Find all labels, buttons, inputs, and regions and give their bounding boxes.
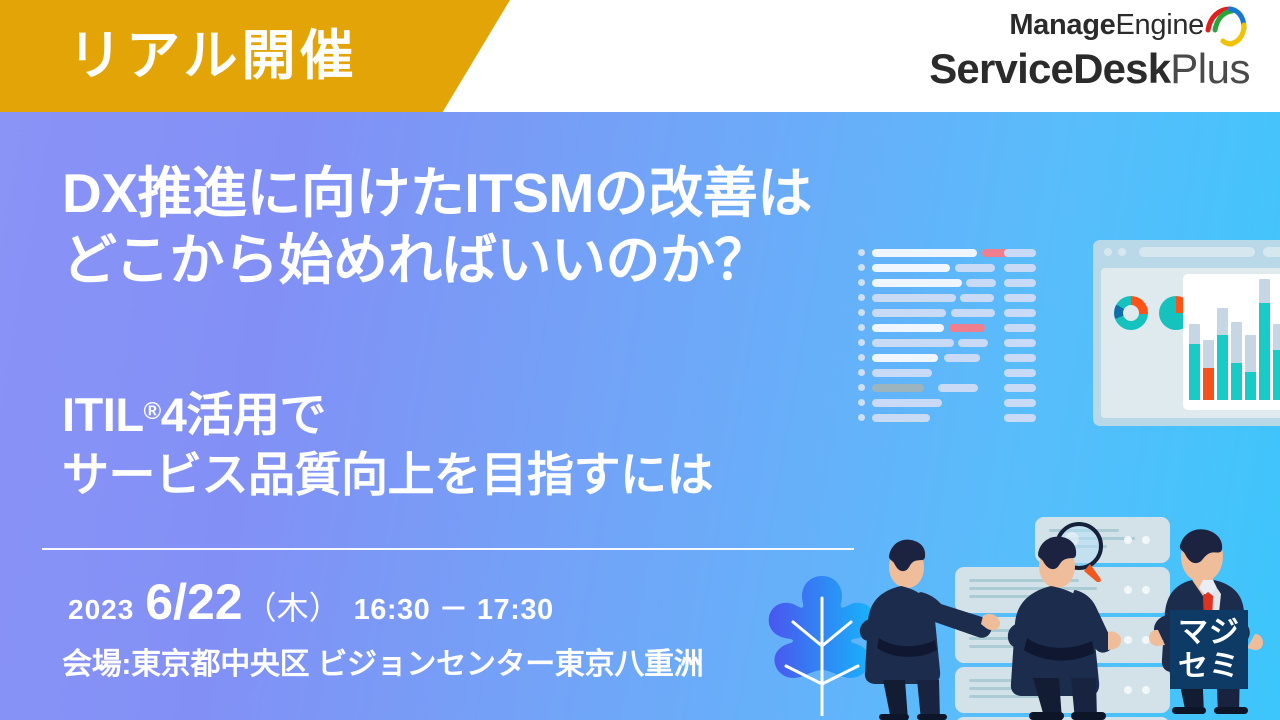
event-weekday: （木） [245,583,341,629]
event-date: 6/22 [145,573,242,631]
title-line-2: どこから始めればいいのか？ [62,227,1062,294]
manageengine-wordmark: ManageEngine [1009,6,1250,44]
subtitle-itil: ITIL [62,388,144,441]
product-edition: Plus [1170,45,1250,92]
bar-chart-bar [1259,279,1270,400]
brand-engine: Engine [1116,9,1205,41]
window-titlebar [1093,240,1280,263]
subtitle-line-2: サービス品質向上を目指すには [62,445,1062,505]
manageengine-text: ManageEngine [1009,9,1204,41]
subtitle-line-1-rest: 4活用で [161,388,326,441]
majisemi-line-1: マジ [1178,616,1240,650]
poster-header: リアル開催 ManageEngine ServiceDeskPlus [0,0,1280,112]
poster-canvas: DX推進に向けたITSMの改善は どこから始めればいいのか？ ITIL®4活用で… [0,0,1280,720]
page-subtitle: ITIL®4活用で サービス品質向上を目指すには [62,382,1062,505]
event-format-label: リアル開催 [68,14,357,98]
bar-chart [1183,274,1280,410]
bar-chart-bar [1189,324,1200,400]
dashboard-window [1093,240,1280,426]
majisemi-line-2: セミ [1178,650,1240,684]
bar-chart-card [1183,274,1280,410]
brand-manage: Manage [1009,9,1115,41]
registered-mark: ® [144,398,161,425]
brand-logo: ManageEngine ServiceDeskPlus [929,6,1250,93]
event-datetime: 2023 6/22 （木） 16:30 － 17:30 [68,573,554,631]
donut-chart-icon [1114,296,1148,330]
event-time: 16:30 － 17:30 [354,586,554,628]
manageengine-swoosh-icon [1202,4,1250,48]
page-title: DX推進に向けたITSMの改善は どこから始めればいいのか？ [62,160,1062,294]
poster-content: DX推進に向けたITSMの改善は どこから始めればいいのか？ ITIL®4活用で… [0,112,900,720]
majisemi-logo: マジ セミ [1170,610,1248,689]
event-year: 2023 [68,594,134,626]
bar-chart-bar [1203,340,1214,400]
event-format-badge: リアル開催 [0,0,510,112]
bar-chart-bar [1217,308,1228,400]
product-name: ServiceDesk [929,45,1170,92]
bar-chart-bar [1273,324,1280,400]
product-wordmark: ServiceDeskPlus [929,45,1250,93]
bar-chart-bar [1245,335,1256,400]
title-line-1: DX推進に向けたITSMの改善は [62,162,812,224]
dashboard-body [1101,268,1280,418]
divider [42,548,854,550]
bar-chart-bar [1231,322,1242,400]
event-venue: 会場:東京都中央区 ビジョンセンター東京八重洲 [62,639,703,683]
